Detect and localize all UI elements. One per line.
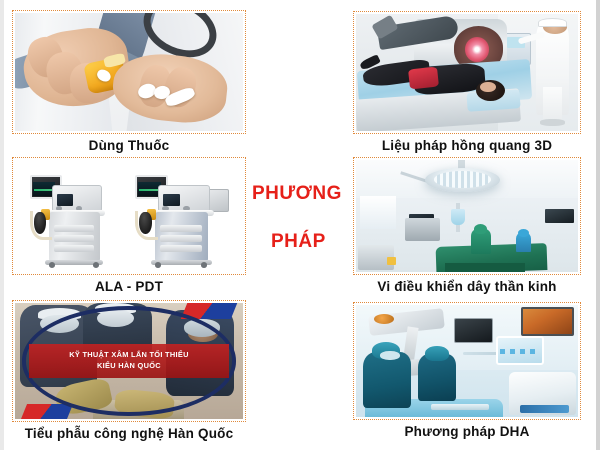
left-edge-strip: [0, 0, 4, 450]
panel-caption: Dùng Thuốc: [12, 138, 246, 153]
center-title-line2: PHÁP: [271, 231, 326, 253]
right-edge-strip: [596, 0, 600, 450]
photo-frame: KỸ THUẬT XÂM LẤN TỐI THIỂU KIỂU HÀN QUỐC: [12, 300, 246, 422]
dha-surgery-room-photo: [356, 305, 578, 417]
overlay-line2: KIỂU HÀN QUỐC: [97, 361, 161, 372]
overlay-line1: KỸ THUẬT XÂM LẤN TỐI THIỂU: [69, 350, 188, 361]
panel-caption: ALA - PDT: [12, 279, 246, 294]
doctor-hands-holding-pills-photo: [15, 13, 243, 131]
infographic-canvas: PHƯƠNG PHÁP Dùng Thuốc: [0, 0, 600, 450]
panel-caption: Vi điều khiển dây thần kinh: [353, 279, 581, 294]
center-title-line1: PHƯƠNG: [252, 183, 342, 205]
overlay-banner: KỸ THUẬT XÂM LẤN TỐI THIỂU KIỂU HÀN QUỐC: [29, 344, 230, 379]
panel-caption: Tiểu phẫu công nghệ Hàn Quốc: [12, 426, 246, 441]
3d-radiotherapy-machine-photo: [356, 14, 578, 131]
ribbon-decoration-bottom: [21, 404, 73, 419]
panel-caption: Liệu pháp hồng quang 3D: [353, 138, 581, 153]
photo-frame: [12, 157, 246, 275]
operating-theatre-photo: [356, 160, 578, 272]
photo-frame: [353, 11, 581, 134]
photo-frame: [12, 10, 246, 134]
korean-minimally-invasive-surgery-photo: KỸ THUẬT XÂM LẤN TỐI THIỂU KIỂU HÀN QUỐC: [15, 303, 243, 419]
photo-frame: [353, 302, 581, 420]
ribbon-decoration-top: [180, 303, 237, 319]
photo-frame: [353, 157, 581, 275]
anesthesia-machines-photo: [15, 160, 243, 272]
panel-caption: Phương pháp DHA: [353, 424, 581, 439]
